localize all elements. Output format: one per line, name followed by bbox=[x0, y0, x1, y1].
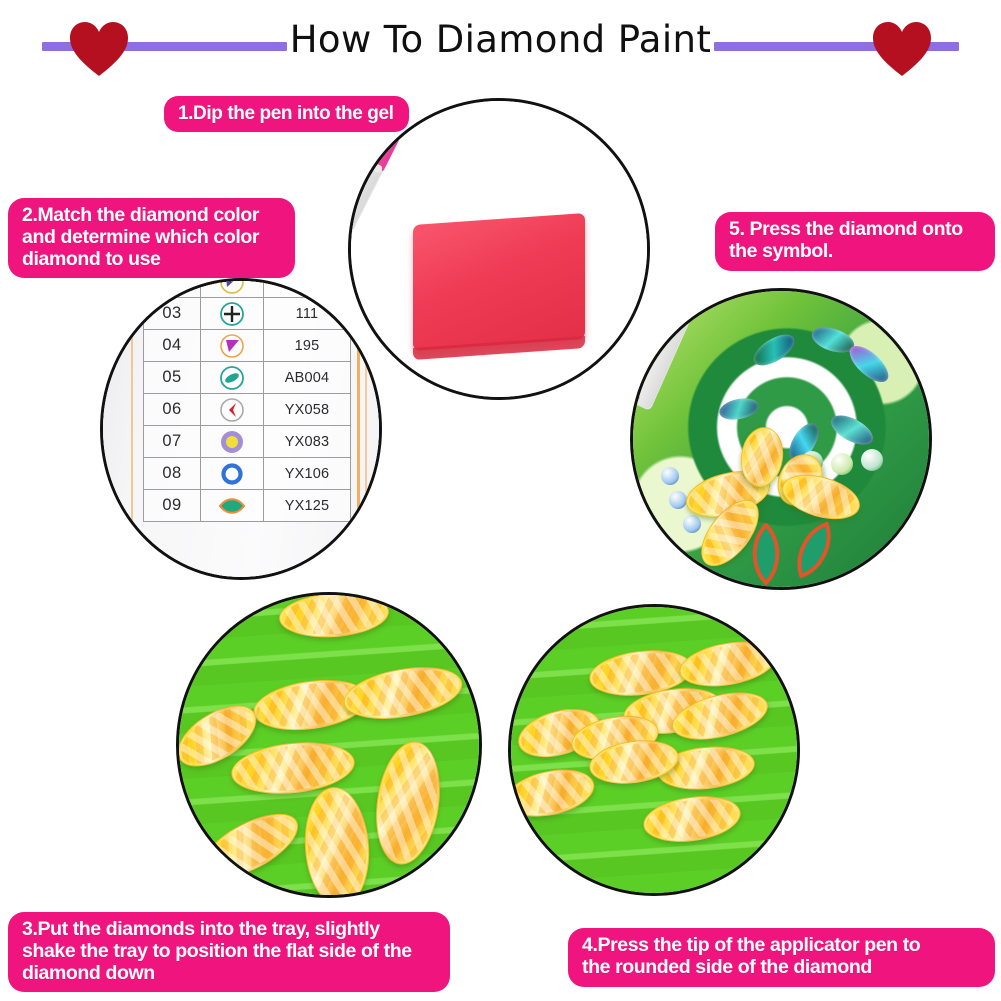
chart-symbol-cell bbox=[201, 458, 264, 490]
caption-line: 4.Press the tip of the applicator pen to bbox=[582, 935, 981, 957]
chart-code: 093 bbox=[264, 278, 351, 298]
color-chart-table: 02 093 03 bbox=[143, 278, 351, 522]
infographic-canvas: How To Diamond Paint 02 bbox=[0, 0, 1001, 1001]
caption-line: the rounded side of the diamond bbox=[582, 957, 981, 979]
green-tray-shape bbox=[511, 607, 797, 893]
table-row: 04 195 bbox=[144, 330, 351, 362]
printed-leaf-shape bbox=[743, 523, 789, 585]
chart-symbol-cell bbox=[201, 490, 264, 522]
canvas-mandala-shape bbox=[633, 291, 929, 587]
step-2-photo: 02 093 03 bbox=[100, 278, 382, 580]
chart-number: 09 bbox=[144, 490, 201, 522]
chart-code: YX125 bbox=[264, 490, 351, 522]
chart-number: 04 bbox=[144, 330, 201, 362]
table-row: 05 AB004 bbox=[144, 362, 351, 394]
circle-yellow-icon bbox=[217, 429, 247, 455]
chart-code: YX106 bbox=[264, 458, 351, 490]
caption-line: the symbol. bbox=[729, 241, 981, 263]
caption-line: shake the tray to position the flat side… bbox=[22, 941, 436, 963]
chart-code: YX083 bbox=[264, 426, 351, 458]
applicator-pen-shape bbox=[630, 288, 705, 456]
step-5-photo bbox=[630, 288, 932, 590]
chart-symbol-cell bbox=[201, 330, 264, 362]
chart-number: 08 bbox=[144, 458, 201, 490]
arrow-red-icon bbox=[217, 397, 247, 423]
table-row: 03 111 bbox=[144, 298, 351, 330]
chart-symbol-cell bbox=[201, 278, 264, 298]
ring-blue-icon bbox=[217, 461, 247, 487]
triangle-purple-icon bbox=[217, 278, 247, 295]
gel-pad-shape bbox=[413, 213, 585, 351]
chart-symbol-cell bbox=[201, 426, 264, 458]
chart-number: 06 bbox=[144, 394, 201, 426]
chart-symbol-cell bbox=[201, 298, 264, 330]
chart-number: 02 bbox=[144, 278, 201, 298]
step-4-caption: 4.Press the tip of the applicator pen to… bbox=[568, 928, 995, 987]
table-row: 09 YX125 bbox=[144, 490, 351, 522]
table-row: 02 093 bbox=[144, 278, 351, 298]
step-5-caption: 5. Press the diamond onto the symbol. bbox=[715, 212, 995, 271]
step-3-photo bbox=[176, 592, 482, 898]
step-3-caption: 3.Put the diamonds into the tray, slight… bbox=[8, 912, 450, 992]
plus-teal-icon bbox=[217, 301, 247, 327]
chart-code: AB004 bbox=[264, 362, 351, 394]
step-4-photo bbox=[508, 604, 800, 896]
caption-line: diamond down bbox=[22, 963, 436, 985]
chart-symbol-cell bbox=[201, 362, 264, 394]
chart-number: 03 bbox=[144, 298, 201, 330]
leaf-green-icon bbox=[217, 493, 247, 519]
step-1-photo bbox=[348, 98, 650, 400]
caption-line: 1.Dip the pen into the gel bbox=[178, 103, 395, 124]
step-2-caption: 2.Match the diamond color and determine … bbox=[8, 198, 295, 278]
caption-line: 3.Put the diamonds into the tray, slight… bbox=[22, 919, 436, 941]
table-row: 06 YX058 bbox=[144, 394, 351, 426]
ellipse-teal-icon bbox=[217, 365, 247, 391]
chart-code: YX058 bbox=[264, 394, 351, 426]
caption-line: 2.Match the diamond color bbox=[22, 205, 281, 227]
page-header: How To Diamond Paint bbox=[0, 0, 1001, 78]
caption-line: and determine which color bbox=[22, 227, 281, 249]
caption-line: diamond to use bbox=[22, 249, 281, 271]
chart-symbol-cell bbox=[201, 394, 264, 426]
chart-number: 05 bbox=[144, 362, 201, 394]
caption-line: 5. Press the diamond onto bbox=[729, 219, 981, 241]
table-row: 08 YX106 bbox=[144, 458, 351, 490]
triangle-magenta-icon bbox=[217, 333, 247, 359]
chart-number: 07 bbox=[144, 426, 201, 458]
chart-code: 111 bbox=[264, 298, 351, 330]
green-tray-shape bbox=[179, 595, 479, 895]
chart-code: 195 bbox=[264, 330, 351, 362]
table-row: 07 YX083 bbox=[144, 426, 351, 458]
page-title: How To Diamond Paint bbox=[0, 18, 1001, 61]
step-1-caption: 1.Dip the pen into the gel bbox=[164, 96, 409, 132]
printed-leaf-shape bbox=[780, 512, 849, 588]
